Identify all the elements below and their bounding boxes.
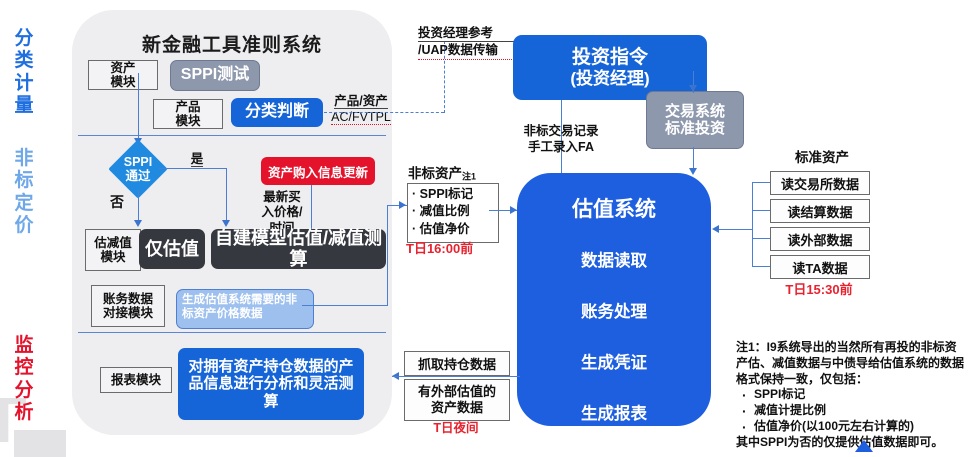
arrow-right-to-nonstd	[399, 201, 406, 209]
trading-system-line1: 交易系统	[665, 103, 725, 120]
connector-note-right	[302, 305, 388, 306]
connector-note-up	[387, 205, 388, 306]
module-tag-impairment: 估减值 模块	[85, 229, 141, 271]
trading-system-box[interactable]: 交易系统 标准投资	[646, 91, 744, 149]
trading-system-line2: 标准投资	[665, 120, 725, 137]
decision-yes-label: 是	[184, 152, 210, 167]
standard-asset-item-ta: 读TA数据	[770, 255, 870, 279]
no-text: 否	[110, 194, 124, 210]
manual-fa-line1: 非标交易记录	[508, 123, 614, 139]
module-tag-report: 报表模块	[100, 367, 172, 393]
label-product-asset: 产品/资产	[330, 94, 392, 109]
standard-assets-branch-1	[752, 182, 770, 183]
stage-label-char: 计	[8, 73, 40, 95]
nonstd-asset-title: 非标资产注1	[408, 166, 508, 182]
valuation-system-item: 账务处理	[581, 298, 647, 322]
external-valuation-line1: 有外部估值的	[418, 384, 496, 400]
standard-assets-deadline: T日15:30前	[770, 282, 868, 298]
generate-price-data-note: 生成估值系统需要的非标资产价格数据	[176, 289, 314, 329]
stage-label-char: 标	[8, 170, 40, 192]
stage-label-classification-measurement: 分 类 计 量	[8, 28, 40, 118]
footnote-bullet: 减值计提比例	[736, 403, 968, 419]
module-tag-product: 产品 模块	[153, 99, 223, 129]
fetch-position-data-box: 抓取持仓数据	[404, 351, 510, 376]
stage-label-char: 分	[8, 28, 40, 50]
stage-label-char: 类	[8, 50, 40, 72]
stage-label-char: 监	[8, 335, 40, 357]
stage-label-char: 非	[8, 148, 40, 170]
im-reference-line1: 投资经理参考	[418, 25, 514, 42]
standard-asset-item-external: 读外部数据	[770, 227, 870, 251]
nonstd-asset-list: · SPPI标记 · 减值比例 · 估值净价	[407, 183, 499, 243]
stage-label-char: 量	[8, 95, 40, 117]
valuation-system-item: 生成凭证	[581, 349, 647, 373]
module-tag-accounting: 账务数据 对接模块	[91, 285, 165, 327]
dashed-classification-to-right	[324, 112, 444, 113]
nonstd-asset-item: · SPPI标记	[412, 186, 494, 203]
standard-assets-branch-4	[752, 266, 770, 267]
standard-assets-to-valuation	[718, 229, 752, 230]
decorative-triangle	[855, 440, 873, 452]
night-time-label: T日夜间	[404, 421, 508, 436]
arrow-down-trading-system	[689, 85, 697, 92]
report-analysis-button[interactable]: 对拥有资产持仓数据的产品信息进行分析和灵活测算	[178, 348, 364, 420]
stage-label-char: 分	[8, 380, 40, 402]
arrow-right-nonstd-valuation	[510, 206, 517, 214]
footnote-head: 注1：I9系统导出的当然所有再投的非标资产估、减值数据与中债导给估值系统的数据格…	[736, 340, 968, 387]
arrow-down-valuation-from-trading	[689, 168, 697, 175]
external-valuation-data-box: 有外部估值的 资产数据	[404, 379, 510, 421]
footnote-tail: 其中SPPI为否的仅提供估值数据即可。	[736, 435, 968, 451]
external-valuation-line2: 资产数据	[431, 400, 483, 416]
arrow-down-valuation-only	[134, 220, 142, 227]
nonstd-asset-title-text: 非标资产	[408, 166, 462, 181]
connector-fetch-to-report	[392, 376, 520, 377]
valuation-system-item: 生成报表	[581, 400, 647, 424]
manual-fa-line2: 手工录入FA	[508, 139, 614, 155]
standard-asset-item-exchange: 读交易所数据	[770, 171, 870, 195]
stage-label-non-standard-pricing: 非 标 定 价	[8, 148, 40, 238]
standard-assets-title: 标准资产	[770, 150, 874, 166]
footnote-bullet: SPPI标记	[736, 387, 968, 403]
yes-text: 是	[191, 152, 204, 167]
corner-decoration-left-lower	[14, 430, 66, 457]
standard-assets-bracket	[752, 182, 753, 266]
module-tag-asset: 资产 模块	[88, 60, 158, 90]
section-divider-2	[78, 332, 386, 333]
sppi-decision-line1: SPPI	[124, 155, 153, 169]
footnote-block: 注1：I9系统导出的当然所有再投的非标资产估、减值数据与中债导给估值系统的数据格…	[736, 340, 968, 451]
stage-label-char: 定	[8, 193, 40, 215]
valuation-system-title: 估值系统	[572, 193, 656, 223]
product-asset-text: 产品/资产	[334, 94, 387, 109]
nonstd-asset-item: · 减值比例	[412, 203, 494, 220]
connector-yes-vertical	[226, 168, 227, 224]
footnote-bullet: 估值净价(以100元左右计算的)	[736, 419, 968, 435]
arrow-down-self-model	[222, 220, 230, 227]
nonstd-asset-title-sup: 注1	[462, 171, 476, 181]
arrow-left-standard-to-valuation	[712, 225, 719, 233]
diagram-canvas: 分 类 计 量 非 标 定 价 监 控 分 析 新金融工具准则系统 资产 模块 …	[0, 0, 969, 457]
valuation-only-button[interactable]: 仅估值	[139, 229, 205, 269]
self-model-valuation-button[interactable]: 自建模型估值/减值测算	[211, 229, 386, 269]
investment-order-line2: (投资经理)	[570, 69, 649, 89]
nonstd-asset-item: · 估值净价	[412, 221, 494, 238]
sppi-test-button[interactable]: SPPI测试	[170, 60, 260, 91]
stage-label-monitoring-analysis: 监 控 分 析	[8, 335, 40, 425]
im-reference-line2: /UAP数据传输	[418, 42, 514, 59]
section-divider-1	[78, 135, 386, 136]
valuation-system-box[interactable]: 估值系统 数据读取 账务处理 生成凭证 生成报表	[517, 173, 711, 426]
standard-assets-branch-3	[752, 238, 770, 239]
standard-asset-item-settlement: 读结算数据	[770, 199, 870, 223]
manual-fa-label: 非标交易记录 手工录入FA	[508, 123, 614, 156]
stage-label-char: 析	[8, 402, 40, 424]
connector-asset-to-decision	[138, 73, 139, 145]
connector-yes-horizontal	[159, 168, 227, 169]
stage-label-char: 价	[8, 215, 40, 237]
asset-purchase-update-badge: 资产购入信息更新	[261, 157, 375, 185]
nonstd-asset-deadline: T日16:00前	[406, 241, 490, 257]
stage-label-char: 控	[8, 357, 40, 379]
connector-purchase-update-down	[311, 185, 312, 233]
panel-title: 新金融工具准则系统	[82, 30, 382, 57]
connector-no-vertical	[138, 190, 139, 224]
standard-assets-branch-2	[752, 210, 770, 211]
im-reference-label: 投资经理参考 /UAP数据传输	[418, 25, 514, 60]
sppi-decision-line2: 通过	[125, 169, 150, 183]
classification-judgement-button[interactable]: 分类判断	[231, 98, 323, 127]
investment-order-line1: 投资指令	[572, 47, 648, 69]
decision-no-label: 否	[104, 194, 130, 211]
valuation-system-item: 数据读取	[581, 247, 647, 271]
